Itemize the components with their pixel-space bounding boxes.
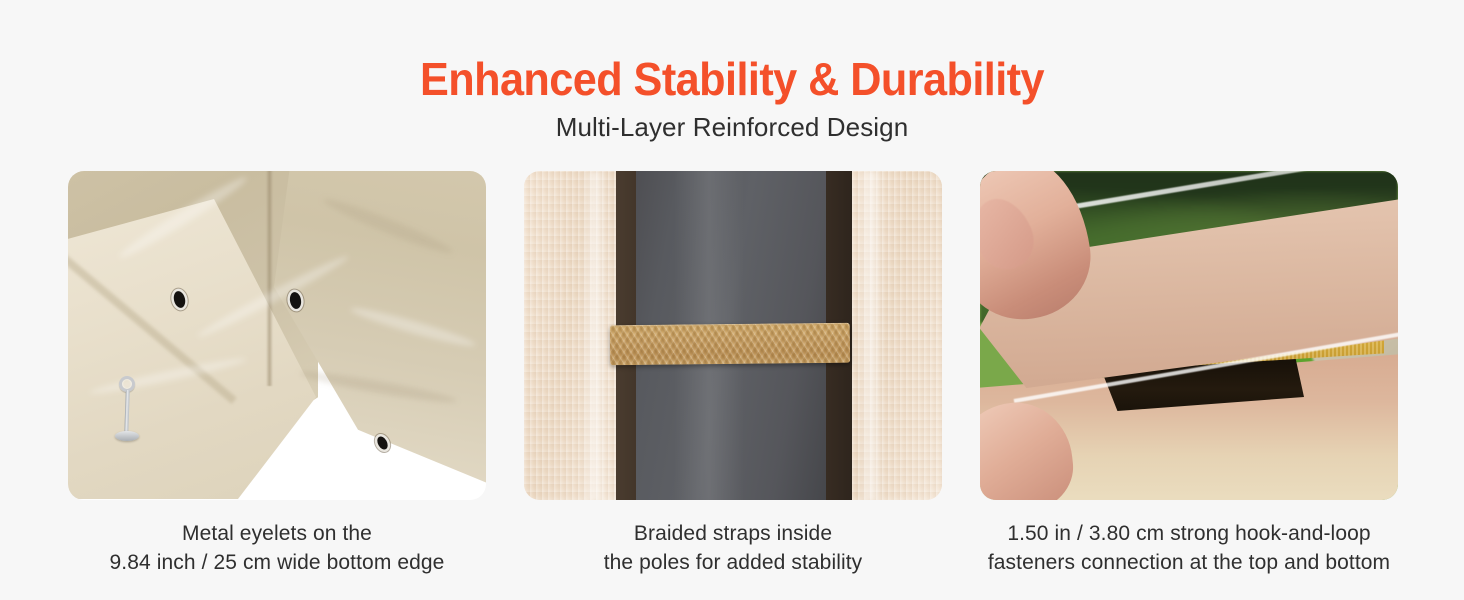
feature-card-eyelets: Metal eyelets on the 9.84 inch / 25 cm w… — [68, 171, 486, 577]
feature-panel-row: Metal eyelets on the 9.84 inch / 25 cm w… — [68, 171, 1398, 577]
page-title: Enhanced Stability & Durability — [44, 56, 1420, 103]
fabric-sheen — [582, 171, 608, 500]
feature-caption: 1.50 in / 3.80 cm strong hook-and-loop f… — [980, 520, 1398, 577]
feature-card-braided-straps: Braided straps inside the poles for adde… — [524, 171, 942, 577]
pole-braided-strap-photo — [524, 171, 942, 500]
tarp-center-seam — [266, 171, 273, 386]
caption-line: the poles for added stability — [524, 549, 942, 578]
feature-caption: Metal eyelets on the 9.84 inch / 25 cm w… — [68, 520, 486, 577]
feature-banner: Enhanced Stability & Durability Multi-La… — [0, 0, 1464, 600]
thumb-nail — [980, 190, 1043, 278]
fabric-sheen — [858, 171, 884, 500]
hook-and-loop-fastener-photo — [980, 171, 1398, 500]
banner-header: Enhanced Stability & Durability Multi-La… — [0, 0, 1464, 143]
caption-line: 9.84 inch / 25 cm wide bottom edge — [68, 549, 486, 578]
caption-line: Metal eyelets on the — [68, 520, 486, 549]
braided-strap — [610, 323, 850, 366]
feature-caption: Braided straps inside the poles for adde… — [524, 520, 942, 577]
tarp-corner-eyelets-photo — [68, 171, 486, 500]
caption-line: Braided straps inside — [524, 520, 942, 549]
page-subtitle: Multi-Layer Reinforced Design — [0, 113, 1464, 143]
ground-stake-base — [115, 431, 139, 441]
feature-card-hook-and-loop: 1.50 in / 3.80 cm strong hook-and-loop f… — [980, 171, 1398, 577]
caption-line: 1.50 in / 3.80 cm strong hook-and-loop — [980, 520, 1398, 549]
caption-line: fasteners connection at the top and bott… — [980, 549, 1398, 578]
